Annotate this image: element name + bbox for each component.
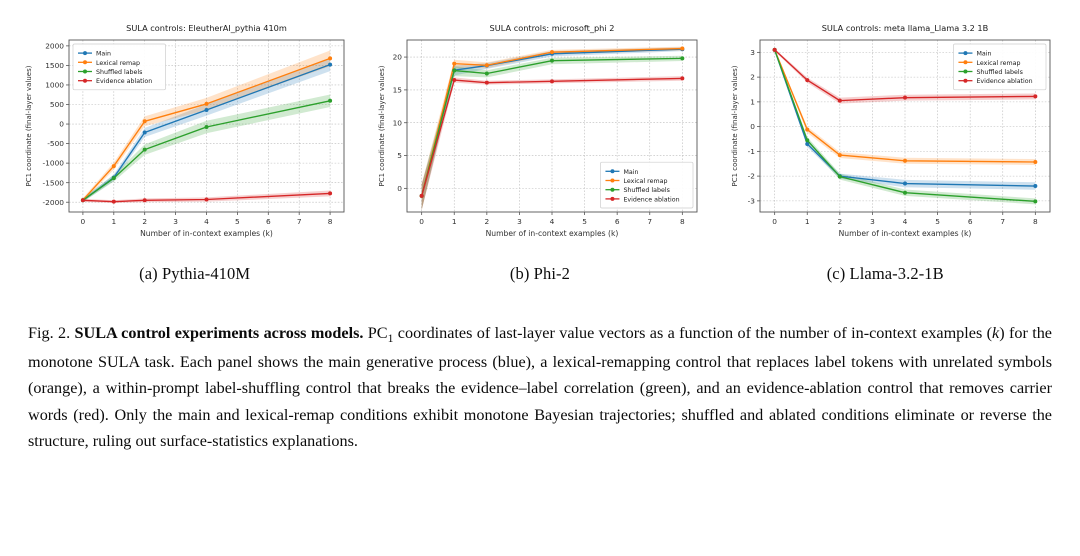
panel-b: SULA controls: microsoft_phi 20123456780… [375,18,705,250]
data-point [452,78,456,82]
y-axis-label: PC1 coordinate (final-layer values) [731,65,739,186]
y-tick-label: 10 [393,118,403,127]
legend-marker-lexical-remap [610,179,614,183]
caption-part-3: ) for the monotone SULA task. Each panel… [28,324,1052,450]
subcaption-c: (c) Llama-3.2-1B [827,264,944,284]
panel-c: SULA controls: meta llama_Llama 3.2 1B01… [728,18,1058,250]
legend-label: Shuffled labels [96,69,142,76]
x-tick-label: 3 [517,217,522,226]
x-tick-label: 1 [805,217,810,226]
y-tick-label: 0 [59,120,64,129]
data-point [452,62,456,66]
x-tick-label: 0 [419,217,424,226]
y-tick-label: 500 [50,100,64,109]
data-point [205,125,209,129]
x-tick-label: 8 [1033,217,1038,226]
y-tick-label: -1000 [43,159,65,168]
legend-marker-evidence-ablation [83,79,87,83]
legend-label: Evidence ablation [976,78,1032,85]
data-point [903,191,907,195]
data-point [328,63,332,67]
x-tick-label: 8 [680,217,685,226]
x-tick-label: 4 [903,217,908,226]
chart-llama-3-2-1b: SULA controls: meta llama_Llama 3.2 1B01… [728,18,1058,250]
y-tick-label: 2000 [45,41,64,50]
legend-label: Main [96,51,111,58]
legend-label: Main [623,169,638,176]
panel-title: SULA controls: EleutherAI_pythia 410m [126,23,287,33]
legend-marker-main [963,51,967,55]
x-tick-label: 5 [935,217,940,226]
data-point [1033,199,1037,203]
data-point [81,198,85,202]
caption-part-1: PC [363,324,387,342]
legend: MainLexical remapShuffled labelsEvidence… [73,44,166,90]
legend-label: Evidence ablation [623,196,679,203]
data-point [328,99,332,103]
x-tick-label: 4 [204,217,209,226]
x-tick-label: 7 [1000,217,1005,226]
y-axis-label: PC1 coordinate (final-layer values) [378,65,386,186]
legend-marker-main [83,51,87,55]
caption-figure-label: Fig. 2. [28,324,70,342]
y-tick-label: 0 [397,184,402,193]
y-tick-label: -500 [47,139,64,148]
data-point [485,71,489,75]
panel-title: SULA controls: meta llama_Llama 3.2 1B [822,23,989,33]
x-tick-label: 6 [615,217,620,226]
data-point [805,128,809,132]
subcaption-b: (b) Phi-2 [510,264,570,284]
legend-label: Lexical remap [96,60,140,67]
legend-marker-lexical-remap [83,60,87,64]
y-tick-label: 5 [397,151,402,160]
subcaption-cell-a: (a) Pythia-410M [22,250,367,284]
x-tick-label: 3 [173,217,178,226]
data-point [838,99,842,103]
data-point [143,119,147,123]
y-tick-label: 1000 [45,81,64,90]
data-point [680,47,684,51]
data-point [143,198,147,202]
caption-bold-title: SULA control experiments across models. [75,324,364,342]
chart-pythia-410m: SULA controls: EleutherAI_pythia 410m012… [22,18,352,250]
legend-marker-evidence-ablation [610,197,614,201]
legend-marker-evidence-ablation [963,79,967,83]
x-axis-label: Number of in-context examples (k) [140,229,273,238]
y-tick-label: -1 [748,147,756,156]
x-tick-label: 7 [297,217,302,226]
data-point [1033,160,1037,164]
x-tick-label: 6 [968,217,973,226]
x-tick-label: 2 [837,217,842,226]
panel-title: SULA controls: microsoft_phi 2 [490,23,615,33]
legend-marker-lexical-remap [963,60,967,64]
data-point [205,197,209,201]
y-tick-label: 20 [393,53,403,62]
y-tick-label: 1 [750,97,755,106]
data-point [550,79,554,83]
data-point [485,81,489,85]
legend-label: Lexical remap [623,178,667,185]
data-point [903,159,907,163]
y-tick-label: 1500 [45,61,64,70]
y-tick-label: -2000 [43,198,65,207]
data-point [112,164,116,168]
data-point [1033,94,1037,98]
legend-marker-main [610,169,614,173]
data-point [328,56,332,60]
x-tick-label: 6 [266,217,271,226]
data-point [112,200,116,204]
legend: MainLexical remapShuffled labelsEvidence… [953,44,1046,90]
legend-label: Evidence ablation [96,78,152,85]
y-tick-label: 2 [750,73,755,82]
data-point [805,138,809,142]
x-tick-label: 3 [870,217,875,226]
legend: MainLexical remapShuffled labelsEvidence… [600,162,693,208]
panels-row: SULA controls: EleutherAI_pythia 410m012… [0,0,1080,250]
data-point [328,191,332,195]
subcaption-row: (a) Pythia-410M (b) Phi-2 (c) Llama-3.2-… [0,250,1080,284]
data-point [838,175,842,179]
legend-marker-shuffled-labels [610,188,614,192]
x-tick-label: 1 [452,217,457,226]
data-point [205,102,209,106]
data-point [773,48,777,52]
x-tick-label: 4 [550,217,555,226]
data-point [838,153,842,157]
x-tick-label: 5 [582,217,587,226]
data-point [903,182,907,186]
x-tick-label: 7 [647,217,652,226]
x-tick-label: 0 [81,217,86,226]
legend-label: Shuffled labels [976,69,1022,76]
data-point [205,108,209,112]
legend-label: Lexical remap [976,60,1020,67]
x-tick-label: 5 [235,217,240,226]
data-point [550,59,554,63]
data-point [485,63,489,67]
data-point [420,194,424,198]
x-axis-label: Number of in-context examples (k) [486,229,619,238]
y-axis-label: PC1 coordinate (final-layer values) [25,65,33,186]
y-tick-label: 0 [750,122,755,131]
data-point [680,76,684,80]
data-point [1033,184,1037,188]
y-tick-label: 15 [393,85,403,94]
subcaption-a: (a) Pythia-410M [139,264,250,284]
figure-caption: Fig. 2. SULA control experiments across … [0,320,1080,454]
y-tick-label: 3 [750,48,755,57]
data-point [903,96,907,100]
subcaption-cell-c: (c) Llama-3.2-1B [713,250,1058,284]
figure-container: SULA controls: EleutherAI_pythia 410m012… [0,0,1080,556]
x-axis-label: Number of in-context examples (k) [839,229,972,238]
data-point [550,50,554,54]
panel-a: SULA controls: EleutherAI_pythia 410m012… [22,18,352,250]
data-point [680,56,684,60]
x-tick-label: 2 [142,217,147,226]
chart-phi-2: SULA controls: microsoft_phi 20123456780… [375,18,705,250]
y-tick-label: -3 [748,196,756,205]
caption-part-2: coordinates of last-layer value vectors … [393,324,992,342]
legend-label: Main [976,51,991,58]
legend-label: Shuffled labels [623,187,669,194]
data-point [805,78,809,82]
subcaption-cell-b: (b) Phi-2 [367,250,712,284]
legend-marker-shuffled-labels [83,70,87,74]
data-point [143,148,147,152]
data-point [143,130,147,134]
x-tick-label: 8 [328,217,333,226]
data-point [112,176,116,180]
data-point [452,69,456,73]
x-tick-label: 0 [772,217,777,226]
y-tick-label: -1500 [43,178,65,187]
legend-marker-shuffled-labels [963,70,967,74]
x-tick-label: 1 [111,217,116,226]
x-tick-label: 2 [484,217,489,226]
y-tick-label: -2 [748,172,755,181]
